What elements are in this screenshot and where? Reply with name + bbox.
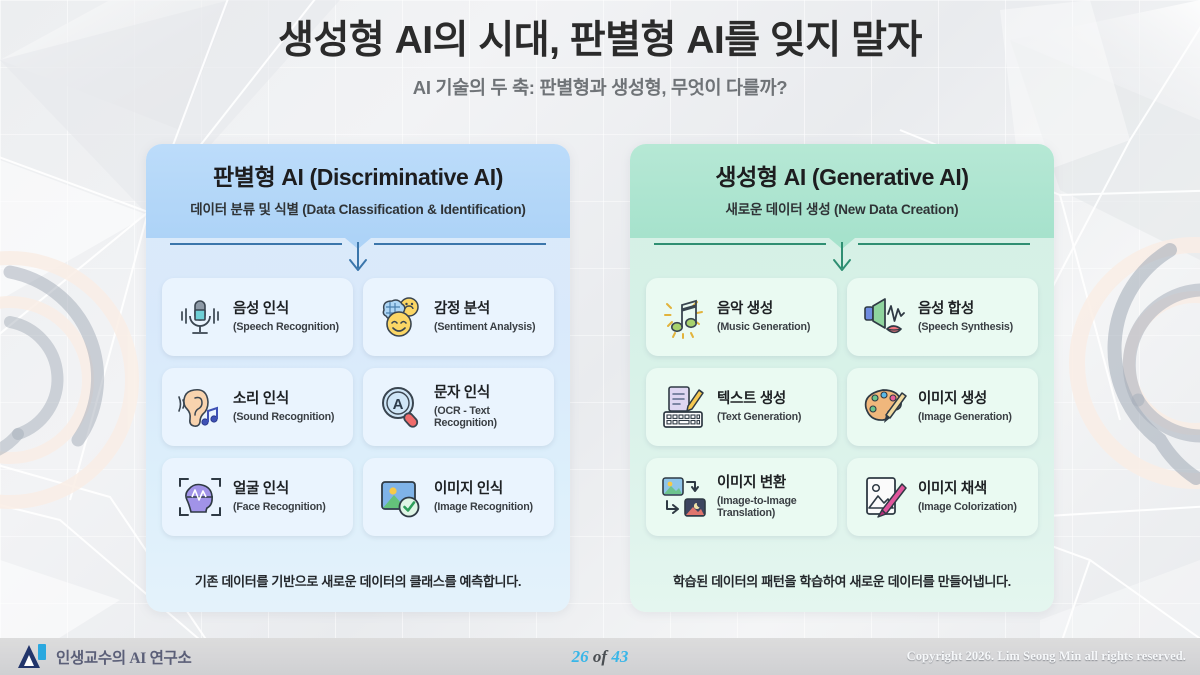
- card-text: 음악 생성 (Music Generation): [717, 301, 810, 332]
- card-text: 이미지 인식 (Image Recognition): [434, 481, 533, 512]
- panel-divider-row: [630, 238, 1054, 276]
- card-label: 얼굴 인식: [233, 481, 326, 497]
- svg-text:A: A: [393, 396, 404, 413]
- card-text: 음성 합성 (Speech Synthesis): [918, 301, 1013, 332]
- capability-card-grid: 음악 생성 (Music Generation) 음성 합성: [646, 278, 1038, 536]
- card-text: 문자 인식 (OCR - Text Recognition): [434, 385, 544, 428]
- card-label: 텍스트 생성: [717, 391, 801, 407]
- card-ocr-text-recognition[interactable]: A 문자 인식 (OCR - Text Recognition): [363, 368, 554, 446]
- divider-arrow-icon: [630, 238, 1054, 276]
- card-text-generation[interactable]: 텍스트 생성 (Text Generation): [646, 368, 837, 446]
- panel-subtitle: 새로운 데이터 생성 (New Data Creation): [630, 198, 1054, 218]
- card-text: 소리 인식 (Sound Recognition): [233, 391, 334, 422]
- slide-canvas: 생성형 AI의 시대, 판별형 AI를 잊지 말자 AI 기술의 두 축: 판별…: [0, 0, 1200, 675]
- speaker-lips-icon: [859, 291, 911, 343]
- divider-arrow-icon: [146, 238, 570, 276]
- card-sublabel: (Sound Recognition): [233, 411, 334, 423]
- card-text: 이미지 생성 (Image Generation): [918, 391, 1012, 422]
- card-label: 이미지 생성: [918, 391, 1012, 407]
- music-note-icon: [658, 291, 710, 343]
- card-label: 음성 인식: [233, 301, 339, 317]
- card-sublabel: (Image-to-Image Translation): [717, 495, 827, 519]
- panel-footnote: 학습된 데이터의 패턴을 학습하여 새로운 데이터를 만들어냅니다.: [630, 571, 1054, 590]
- card-speech-synthesis[interactable]: 음성 합성 (Speech Synthesis): [847, 278, 1038, 356]
- panel-divider-row: [146, 238, 570, 276]
- panel-header: 생성형 AI (Generative AI) 새로운 데이터 생성 (New D…: [630, 144, 1054, 238]
- brain-emoji-icon: [375, 291, 427, 343]
- panel-title: 판별형 AI (Discriminative AI): [146, 164, 570, 192]
- card-sublabel: (Speech Recognition): [233, 321, 339, 333]
- card-label: 감정 분석: [434, 301, 535, 317]
- card-sublabel: (Image Recognition): [434, 501, 533, 513]
- card-text: 얼굴 인식 (Face Recognition): [233, 481, 326, 512]
- card-text: 감정 분석 (Sentiment Analysis): [434, 301, 535, 332]
- keyboard-pencil-icon: [658, 381, 710, 433]
- card-label: 이미지 변환: [717, 475, 827, 491]
- ear-music-icon: [174, 381, 226, 433]
- panel-subtitle: 데이터 분류 및 식별 (Data Classification & Ident…: [146, 198, 570, 218]
- card-music-generation[interactable]: 음악 생성 (Music Generation): [646, 278, 837, 356]
- card-image-to-image-translation[interactable]: 이미지 변환 (Image-to-Image Translation): [646, 458, 837, 536]
- card-sentiment-analysis[interactable]: 감정 분석 (Sentiment Analysis): [363, 278, 554, 356]
- image-swap-icon: [658, 471, 710, 523]
- page-title: 생성형 AI의 시대, 판별형 AI를 잊지 말자: [0, 18, 1200, 64]
- page-total: 43: [611, 647, 628, 666]
- title-block: 생성형 AI의 시대, 판별형 AI를 잊지 말자 AI 기술의 두 축: 판별…: [0, 18, 1200, 100]
- panel-footnote: 기존 데이터를 기반으로 새로운 데이터의 클래스를 예측합니다.: [146, 571, 570, 590]
- card-image-recognition[interactable]: 이미지 인식 (Image Recognition): [363, 458, 554, 536]
- card-sublabel: (Music Generation): [717, 321, 810, 333]
- card-sublabel: (Face Recognition): [233, 501, 326, 513]
- page-subtitle: AI 기술의 두 축: 판별형과 생성형, 무엇이 다를까?: [0, 74, 1200, 100]
- card-label: 음성 합성: [918, 301, 1013, 317]
- card-text: 이미지 변환 (Image-to-Image Translation): [717, 475, 827, 518]
- page-of-label: of: [593, 647, 607, 666]
- panel-discriminative-ai: 판별형 AI (Discriminative AI) 데이터 분류 및 식별 (…: [146, 144, 570, 612]
- card-sublabel: (Text Generation): [717, 411, 801, 423]
- card-text: 텍스트 생성 (Text Generation): [717, 391, 801, 422]
- image-check-icon: [375, 471, 427, 523]
- card-label: 음악 생성: [717, 301, 810, 317]
- card-label: 이미지 인식: [434, 481, 533, 497]
- card-sublabel: (Sentiment Analysis): [434, 321, 535, 333]
- capability-card-grid: 음성 인식 (Speech Recognition): [162, 278, 554, 536]
- panel-generative-ai: 생성형 AI (Generative AI) 새로운 데이터 생성 (New D…: [630, 144, 1054, 612]
- copyright-text: Copyright 2026. Lim Seong Min all rights…: [907, 649, 1186, 664]
- card-sublabel: (Speech Synthesis): [918, 321, 1013, 333]
- panel-title: 생성형 AI (Generative AI): [630, 164, 1054, 192]
- footer-bar: 인생교수의 AI 연구소 26 of 43 Copyright 2026. Li…: [0, 638, 1200, 675]
- canvas-brush-icon: [859, 471, 911, 523]
- card-text: 이미지 채색 (Image Colorization): [918, 481, 1017, 512]
- card-text: 음성 인식 (Speech Recognition): [233, 301, 339, 332]
- card-sublabel: (OCR - Text Recognition): [434, 405, 544, 429]
- face-scan-icon: [174, 471, 226, 523]
- microphone-icon: [174, 291, 226, 343]
- panel-header: 판별형 AI (Discriminative AI) 데이터 분류 및 식별 (…: [146, 144, 570, 238]
- card-sound-recognition[interactable]: 소리 인식 (Sound Recognition): [162, 368, 353, 446]
- card-image-colorization[interactable]: 이미지 채색 (Image Colorization): [847, 458, 1038, 536]
- card-label: 문자 인식: [434, 385, 544, 401]
- card-label: 소리 인식: [233, 391, 334, 407]
- palette-brush-icon: [859, 381, 911, 433]
- card-sublabel: (Image Colorization): [918, 501, 1017, 513]
- card-speech-recognition[interactable]: 음성 인식 (Speech Recognition): [162, 278, 353, 356]
- card-sublabel: (Image Generation): [918, 411, 1012, 423]
- card-face-recognition[interactable]: 얼굴 인식 (Face Recognition): [162, 458, 353, 536]
- card-image-generation[interactable]: 이미지 생성 (Image Generation): [847, 368, 1038, 446]
- magnifier-a-icon: A: [375, 381, 427, 433]
- card-label: 이미지 채색: [918, 481, 1017, 497]
- page-current: 26: [572, 647, 589, 666]
